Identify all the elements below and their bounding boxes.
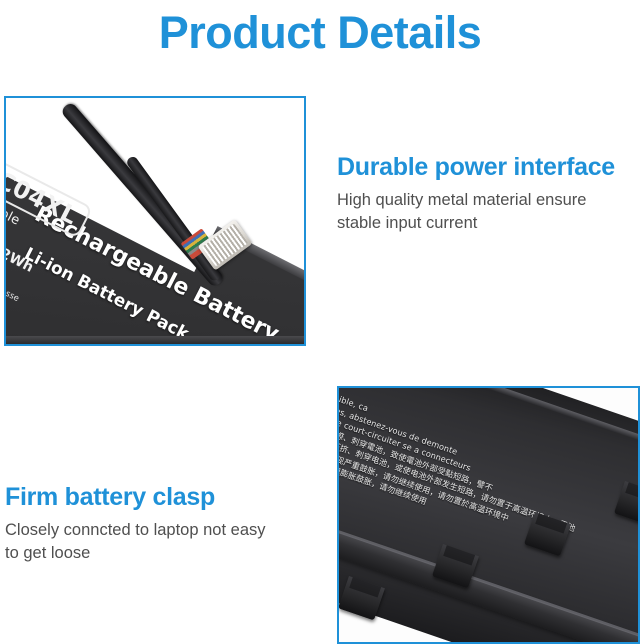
photo-inner-interface: Rechargeable Battery Li-ion Battery Pack… xyxy=(6,98,304,344)
feature-heading-power-interface: Durable power interface xyxy=(337,152,640,182)
photo-inner-clasp: ible, caes, abstenez-vous de demontede c… xyxy=(339,388,638,642)
clasp-notch xyxy=(625,482,638,502)
feature-body-line-2: stable input current xyxy=(337,212,640,235)
feature-body-line-2: to get loose xyxy=(5,542,317,565)
product-photo-battery-clasp[interactable]: ible, caes, abstenez-vous de demontede c… xyxy=(337,386,640,644)
feature-body-battery-clasp: Closely conncted to laptop not easy to g… xyxy=(5,519,317,565)
feature-body-power-interface: High quality metal material ensure stabl… xyxy=(337,189,640,235)
feature-block-power-interface: Durable power interface High quality met… xyxy=(337,152,640,235)
product-photo-power-interface[interactable]: Rechargeable Battery Li-ion Battery Pack… xyxy=(4,96,306,346)
battery-bottom-strip xyxy=(6,336,304,344)
page-title: Product Details xyxy=(0,2,640,64)
feature-body-line-1: High quality metal material ensure xyxy=(337,189,640,212)
feature-block-battery-clasp: Firm battery clasp Closely conncted to l… xyxy=(5,482,317,565)
feature-heading-battery-clasp: Firm battery clasp xyxy=(5,482,317,512)
feature-body-line-1: Closely conncted to laptop not easy xyxy=(5,519,317,542)
